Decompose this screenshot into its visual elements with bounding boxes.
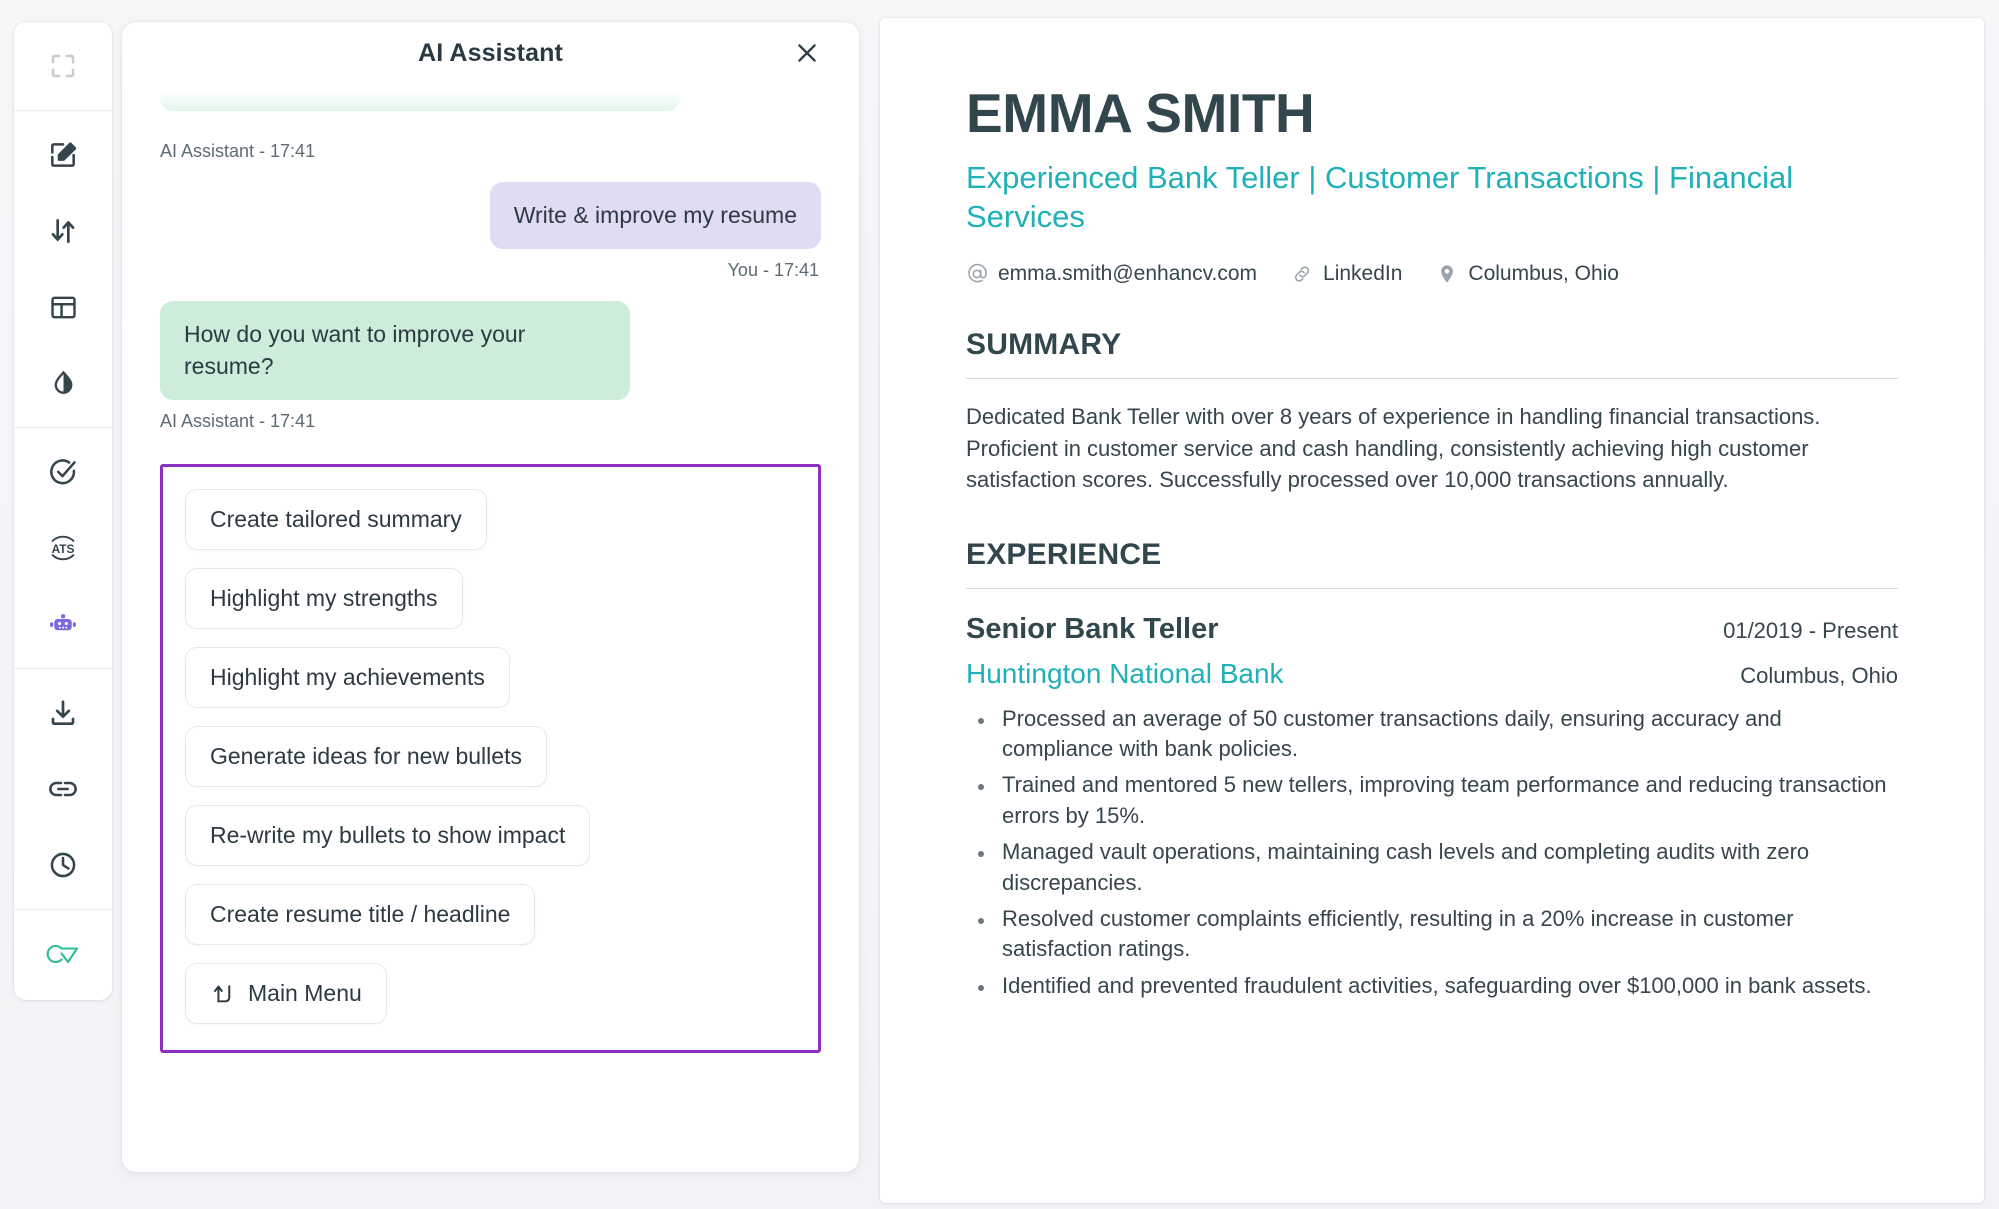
chat-message-meta: AI Assistant - 17:41 — [160, 141, 315, 162]
rail-divider — [14, 427, 112, 428]
suggestion-rewrite-my-bullets-to-show-impact[interactable]: Re-write my bullets to show impact — [185, 805, 590, 866]
rail-group-edit — [14, 117, 112, 421]
fullscreen-icon[interactable] — [24, 28, 102, 104]
suggestion-label: Re-write my bullets to show impact — [210, 822, 565, 849]
rail-divider — [14, 668, 112, 669]
job-bullet: Resolved customer complaints efficiently… — [996, 904, 1898, 965]
chat-message: Write & improve my resume You - 17:41 — [160, 182, 821, 301]
resume-contact-row: emma.smith@enhancv.com LinkedIn Colum — [966, 262, 1898, 286]
chat-message-meta: AI Assistant - 17:41 — [160, 411, 315, 432]
chat-header: AI Assistant — [122, 22, 859, 84]
resume-section-experience[interactable]: EXPERIENCE Senior Bank Teller 01/2019 - … — [966, 538, 1898, 1001]
job-bullet-list: Processed an average of 50 customer tran… — [966, 704, 1898, 1001]
suggestion-highlight-my-strengths[interactable]: Highlight my strengths — [185, 568, 463, 629]
suggestion-label: Create tailored summary — [210, 506, 462, 533]
section-title: EXPERIENCE — [966, 538, 1898, 572]
chat-message-meta: You - 17:41 — [728, 260, 819, 281]
tool-rail: ATS — [14, 22, 112, 1000]
contact-linkedin[interactable]: LinkedIn — [1291, 262, 1402, 286]
resume-section-summary[interactable]: SUMMARY Dedicated Bank Teller with over … — [966, 328, 1898, 495]
job-bullet: Processed an average of 50 customer tran… — [996, 704, 1898, 765]
ai-assistant-icon[interactable] — [24, 586, 102, 662]
rail-group-view — [14, 28, 112, 104]
link-icon — [1291, 263, 1313, 285]
chat-bubble-ai: help you today? — [160, 84, 680, 111]
rail-group-export — [14, 675, 112, 903]
check-circle-icon[interactable] — [24, 434, 102, 510]
reorder-icon[interactable] — [24, 193, 102, 269]
return-arrow-icon — [210, 981, 235, 1006]
contact-location[interactable]: Columbus, Ohio — [1436, 262, 1619, 286]
suggestion-generate-ideas-for-new-bullets[interactable]: Generate ideas for new bullets — [185, 726, 547, 787]
chat-bubble-user: Write & improve my resume — [490, 182, 821, 249]
chat-message: How do you want to improve your resume? … — [160, 301, 821, 452]
rail-divider — [14, 909, 112, 910]
svg-text:ATS: ATS — [52, 542, 75, 556]
suggestion-label: Create resume title / headline — [210, 901, 510, 928]
chat-bubble-ai: How do you want to improve your resume? — [160, 301, 630, 400]
job-bullet: Trained and mentored 5 new tellers, impr… — [996, 770, 1898, 831]
link-icon[interactable] — [24, 751, 102, 827]
job-bullet: Managed vault operations, maintaining ca… — [996, 837, 1898, 898]
section-divider — [966, 378, 1898, 379]
resume-headline: Experienced Bank Teller | Customer Trans… — [966, 158, 1886, 236]
suggestion-create-tailored-summary[interactable]: Create tailored summary — [185, 489, 487, 550]
job-subheader: Huntington National Bank Columbus, Ohio — [966, 658, 1898, 690]
job-title: Senior Bank Teller — [966, 613, 1219, 646]
section-title: SUMMARY — [966, 328, 1898, 362]
suggestion-label: Generate ideas for new bullets — [210, 743, 522, 770]
job-bullet: Identified and prevented fraudulent acti… — [996, 971, 1898, 1001]
suggestion-create-resume-title-headline[interactable]: Create resume title / headline — [185, 884, 535, 945]
droplet-contrast-icon[interactable] — [24, 345, 102, 421]
suggestion-label: Highlight my strengths — [210, 585, 438, 612]
chat-message: help you today? AI Assistant - 17:41 — [160, 84, 821, 182]
chat-bubble-clipped-wrap: help you today? — [160, 84, 680, 130]
rail-divider — [14, 110, 112, 111]
close-icon[interactable] — [789, 35, 825, 71]
edit-icon[interactable] — [24, 117, 102, 193]
suggestion-label: Highlight my achievements — [210, 664, 485, 691]
ats-icon[interactable]: ATS — [24, 510, 102, 586]
ai-assistant-panel: AI Assistant help you today? AI Assistan… — [122, 22, 859, 1172]
experience-entry[interactable]: Senior Bank Teller 01/2019 - Present Hun… — [966, 613, 1898, 1001]
resume-name: EMMA SMITH — [966, 84, 1898, 142]
brand-logo-icon[interactable] — [24, 916, 102, 992]
download-icon[interactable] — [24, 675, 102, 751]
suggestion-group: Create tailored summary Highlight my str… — [160, 464, 821, 1053]
rail-group-brand — [14, 916, 112, 992]
layout-icon[interactable] — [24, 269, 102, 345]
resume-preview[interactable]: EMMA SMITH Experienced Bank Teller | Cus… — [880, 18, 1984, 1203]
contact-linkedin-text: LinkedIn — [1323, 262, 1402, 286]
suggestion-highlight-my-achievements[interactable]: Highlight my achievements — [185, 647, 510, 708]
chat-message-list[interactable]: help you today? AI Assistant - 17:41 Wri… — [122, 84, 859, 1172]
suggestion-label: Main Menu — [248, 980, 362, 1007]
contact-location-text: Columbus, Ohio — [1468, 262, 1619, 286]
job-location: Columbus, Ohio — [1740, 663, 1898, 689]
clock-icon[interactable] — [24, 827, 102, 903]
app-root: ATS — [0, 0, 1999, 1209]
summary-text: Dedicated Bank Teller with over 8 years … — [966, 401, 1898, 495]
contact-email[interactable]: emma.smith@enhancv.com — [966, 262, 1257, 286]
at-icon — [966, 263, 988, 285]
contact-email-text: emma.smith@enhancv.com — [998, 262, 1257, 286]
job-header: Senior Bank Teller 01/2019 - Present — [966, 613, 1898, 646]
main-menu-button[interactable]: Main Menu — [185, 963, 387, 1024]
section-divider — [966, 588, 1898, 589]
job-dates: 01/2019 - Present — [1723, 618, 1898, 644]
chat-title: AI Assistant — [418, 39, 563, 68]
job-company: Huntington National Bank — [966, 658, 1284, 690]
location-icon — [1436, 263, 1458, 285]
rail-group-check: ATS — [14, 434, 112, 662]
